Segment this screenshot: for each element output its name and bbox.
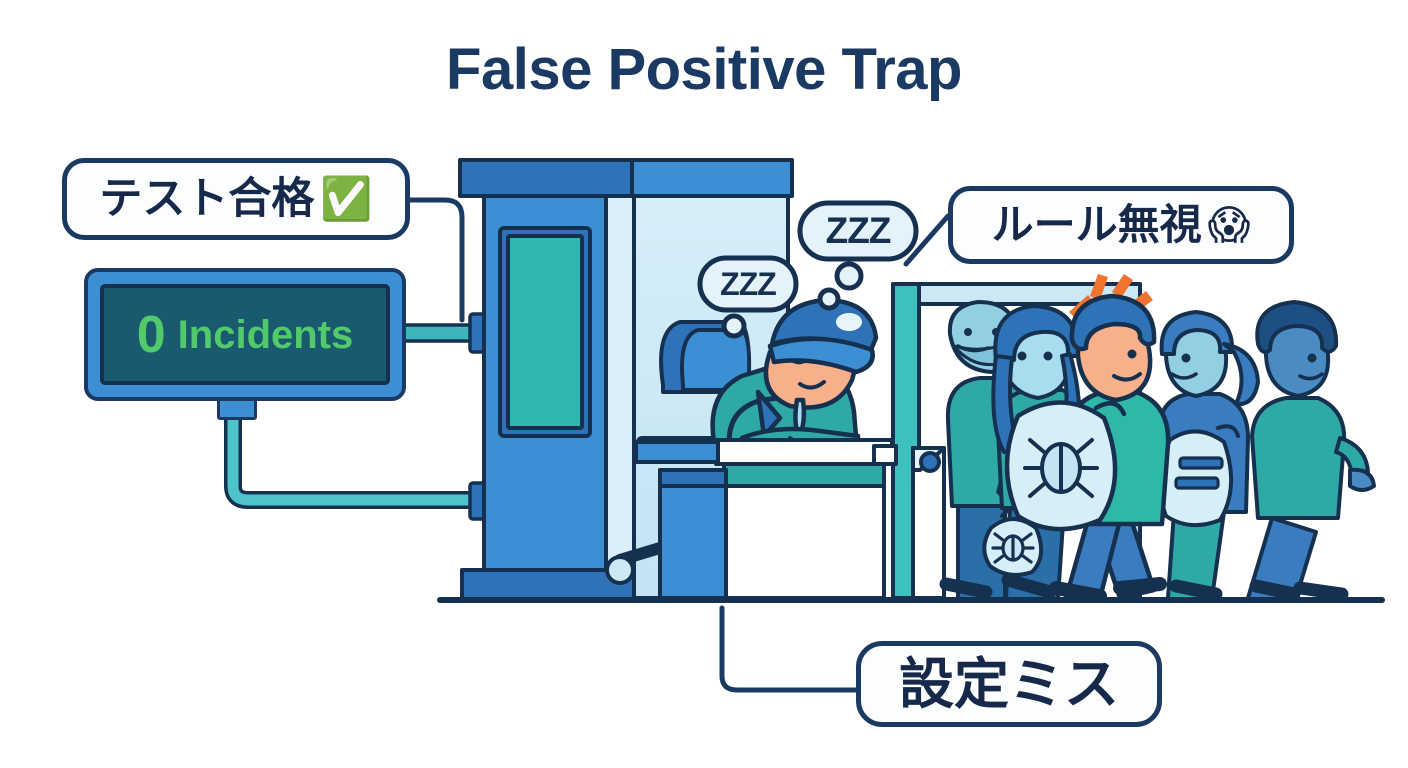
zzz-text-large: ZZZ: [800, 203, 916, 259]
display-board-post: [217, 398, 257, 420]
callout-config-mistake[interactable]: 設定ミス: [856, 641, 1162, 727]
incident-display-board: 0 Incidents: [84, 268, 406, 401]
person-curly-hair: [1248, 302, 1374, 598]
callout-rule-ignore[interactable]: ルール無視 😱: [948, 186, 1294, 264]
illustration-canvas: False Positive Trap: [0, 0, 1408, 768]
callout-test-pass[interactable]: テスト合格 ✅: [62, 158, 410, 240]
callout-test-pass-label: テスト合格: [99, 178, 314, 221]
screaming-face-emoji: 😱: [1208, 205, 1251, 246]
callout-rule-ignore-label: ルール無視: [992, 204, 1202, 246]
display-screen: 0 Incidents: [100, 284, 390, 385]
callout-config-mistake-label: 設定ミス: [899, 657, 1119, 712]
bug-icon-handbag: [993, 534, 1033, 562]
zzz-text-small: ZZZ: [700, 258, 796, 310]
incident-count: 0: [137, 309, 166, 361]
guard-desk: [636, 440, 892, 598]
incident-label: Incidents: [178, 315, 354, 355]
check-mark-button-emoji: ✅: [320, 178, 372, 220]
